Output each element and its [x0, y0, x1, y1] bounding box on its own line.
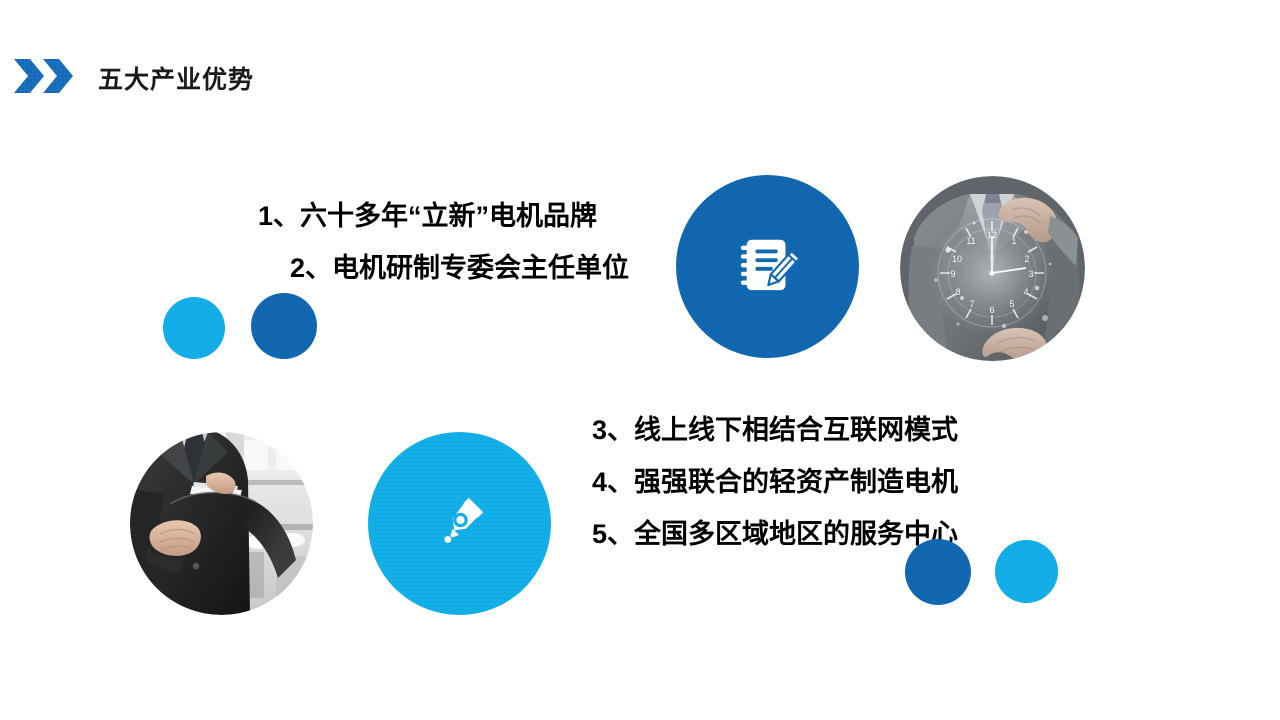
businessman-clipboard-photo: [130, 432, 313, 615]
pen-nib-circle: [368, 432, 551, 615]
slide-canvas: 五大产业优势 1、六十多年“立新”电机品牌 2、电机研制专委会主任单位 3、线上…: [0, 0, 1280, 720]
svg-text:11: 11: [966, 236, 975, 246]
advantage-item-4: 4、强强联合的轻资产制造电机: [592, 456, 958, 508]
svg-text:6: 6: [989, 305, 994, 315]
advantage-list-top: 1、六十多年“立新”电机品牌 2、电机研制专委会主任单位: [258, 190, 629, 294]
svg-text:1: 1: [1011, 236, 1016, 246]
svg-text:7: 7: [969, 299, 974, 309]
svg-text:2: 2: [1024, 254, 1029, 264]
small-circle-light-right: [995, 540, 1058, 603]
small-circle-light-left: [163, 297, 225, 359]
svg-text:8: 8: [955, 287, 960, 297]
svg-text:4: 4: [1023, 287, 1028, 297]
double-chevron-right-icon: [14, 59, 76, 98]
small-circle-dark-left: [251, 293, 317, 359]
notebook-pencil-icon: [737, 233, 799, 300]
page-title: 五大产业优势: [98, 60, 254, 96]
advantage-list-bottom: 3、线上线下相结合互联网模式 4、强强联合的轻资产制造电机 5、全国多区域地区的…: [592, 404, 958, 560]
notebook-pencil-circle: [676, 175, 859, 358]
svg-text:3: 3: [1028, 269, 1033, 279]
advantage-item-1: 1、六十多年“立新”电机品牌: [258, 190, 629, 242]
advantage-item-5: 5、全国多区域地区的服务中心: [592, 508, 958, 560]
svg-text:9: 9: [950, 269, 955, 279]
advantage-item-3: 3、线上线下相结合互联网模式: [592, 404, 958, 456]
advantage-item-2: 2、电机研制专委会主任单位: [258, 242, 629, 294]
businessman-clock-photo: 12 1 2 3 4 5 6 7 8 9 10 11: [900, 176, 1085, 361]
small-circle-dark-right: [905, 539, 971, 605]
svg-text:10: 10: [952, 254, 962, 264]
svg-text:5: 5: [1009, 299, 1014, 309]
pen-nib-icon: [429, 490, 491, 557]
slide-header: 五大产业优势: [0, 55, 254, 101]
